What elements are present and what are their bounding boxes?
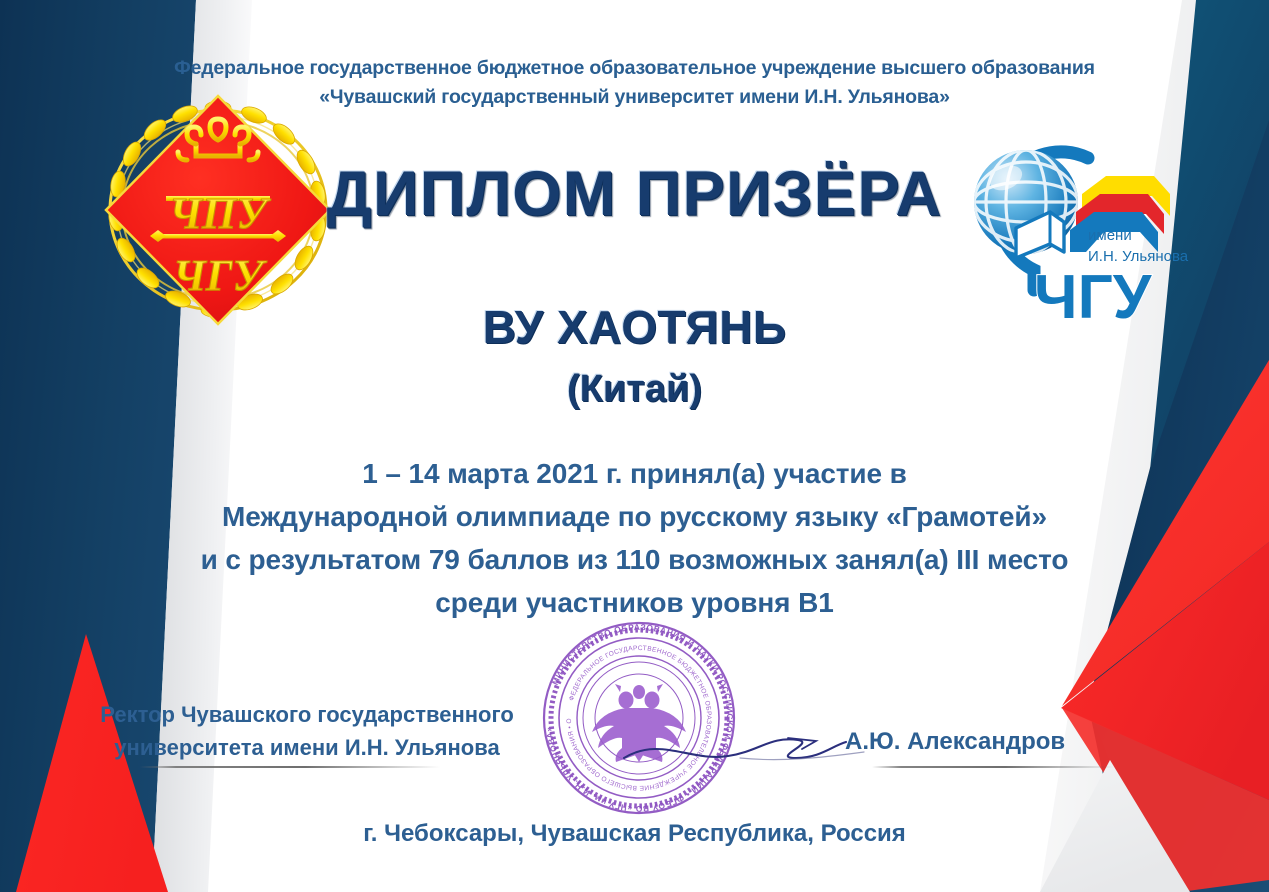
emblem-letters-bottom: ЧГУ bbox=[173, 251, 267, 300]
handwritten-signature bbox=[620, 718, 880, 778]
award-body-text: 1 – 14 марта 2021 г. принял(а) участие в… bbox=[0, 452, 1269, 624]
page-title: ДИПЛОМ ПРИЗЁРА bbox=[0, 158, 1269, 230]
body-line-2: Международной олимпиаде по русскому язык… bbox=[0, 495, 1269, 538]
signature-line-left bbox=[140, 766, 440, 768]
header-line-1: Федеральное государственное бюджетное об… bbox=[0, 54, 1269, 83]
header-line-2: «Чувашский государственный университет и… bbox=[0, 83, 1269, 112]
body-line-1: 1 – 14 марта 2021 г. принял(а) участие в bbox=[0, 452, 1269, 495]
rector-name: А.Ю. Александров bbox=[845, 728, 1065, 756]
header-institution: Федеральное государственное бюджетное об… bbox=[0, 54, 1269, 112]
recipient-name: ВУ ХАОТЯНЬ bbox=[0, 300, 1269, 354]
body-line-3: и с результатом 79 баллов из 110 возможн… bbox=[0, 538, 1269, 581]
certificate-page: ЧПУ ЧГУ bbox=[0, 0, 1269, 892]
signature-line-right bbox=[872, 766, 1114, 768]
body-line-4: среди участников уровня B1 bbox=[0, 581, 1269, 624]
recipient-country: (Китай) bbox=[0, 368, 1269, 411]
rector-title: Ректор Чувашского государственного униве… bbox=[62, 698, 552, 764]
rector-title-line-1: Ректор Чувашского государственного bbox=[62, 698, 552, 731]
rector-title-line-2: университета имени И.Н. Ульянова bbox=[62, 731, 552, 764]
footer-location: г. Чебоксары, Чувашская Республика, Росс… bbox=[0, 820, 1269, 848]
